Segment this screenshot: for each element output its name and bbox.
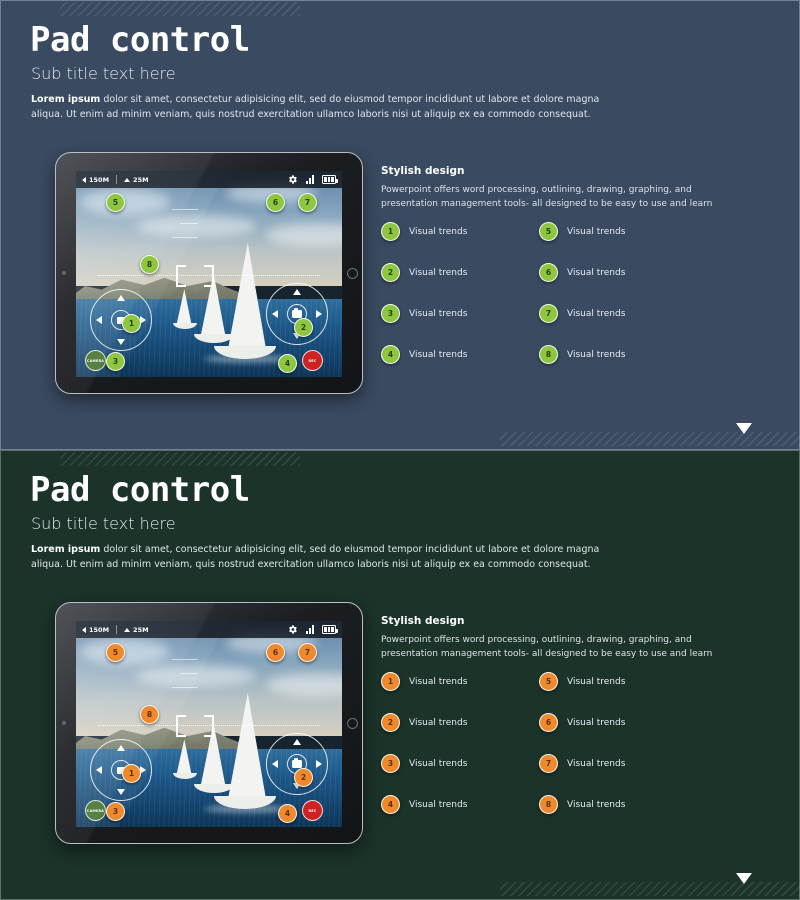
legend-badge: 6: [539, 713, 558, 732]
legend-label: Visual trends: [409, 350, 467, 360]
list-item[interactable]: 6Visual trends: [539, 713, 681, 732]
tablet-device: 150M 25M: [55, 602, 363, 844]
callout-pin-7[interactable]: 7: [298, 193, 317, 212]
legend-label: Visual trends: [567, 227, 625, 237]
triangle-left-icon: [82, 627, 86, 633]
focus-tick: [172, 659, 198, 660]
distance-up-group: 25M: [124, 176, 149, 184]
page-title: Pad control: [30, 470, 250, 510]
list-item[interactable]: 5Visual trends: [539, 222, 681, 241]
photo-cloud: [80, 639, 170, 665]
panel-heading: Stylish design: [381, 165, 464, 177]
triangle-left-icon: [82, 177, 86, 183]
body-paragraph: Lorem ipsum dolor sit amet, consectetur …: [31, 543, 631, 572]
decorative-hatch-top: [60, 2, 300, 16]
page-subtitle: Sub title text here: [31, 514, 176, 533]
list-item[interactable]: 4Visual trends: [381, 345, 523, 364]
list-item[interactable]: 2Visual trends: [381, 263, 523, 282]
status-right-icons: [287, 624, 336, 635]
body-rest: dolor sit amet, consectetur adipisicing …: [31, 94, 599, 120]
body-paragraph: Lorem ipsum dolor sit amet, consectetur …: [31, 93, 631, 122]
legend-label: Visual trends: [567, 268, 625, 278]
list-item[interactable]: 3Visual trends: [381, 754, 523, 773]
photo-mode-button[interactable]: CAMERA: [85, 350, 106, 371]
slide-pad-control-blue: Pad control Sub title text here Lorem ip…: [0, 0, 800, 450]
tablet-screen: 150M 25M: [76, 171, 342, 377]
distance-up-value: 25M: [133, 176, 149, 184]
distance-left-value: 150M: [89, 626, 109, 634]
legend-badge: 7: [539, 304, 558, 323]
legend-badge: 1: [381, 222, 400, 241]
tablet-device: 150M 25M: [55, 152, 363, 394]
gear-icon[interactable]: [287, 624, 298, 635]
next-slide-arrow-icon[interactable]: [736, 423, 752, 434]
list-item[interactable]: 8Visual trends: [539, 795, 681, 814]
battery-icon: [322, 625, 336, 634]
camera-status-bar: 150M 25M: [76, 171, 342, 188]
legend-label: Visual trends: [409, 759, 467, 769]
legend-label: Visual trends: [409, 309, 467, 319]
legend-label: Visual trends: [567, 309, 625, 319]
dpad-left-arrow-icon[interactable]: [272, 760, 278, 768]
front-camera-icon: [62, 271, 66, 275]
dpad-down-arrow-icon[interactable]: [117, 339, 125, 345]
panel-description: Powerpoint offers word processing, outli…: [381, 183, 731, 212]
dpad-right-arrow-icon[interactable]: [316, 760, 322, 768]
list-item[interactable]: 1Visual trends: [381, 672, 523, 691]
photo-cloud: [136, 665, 256, 687]
legend-badge: 4: [381, 345, 400, 364]
home-button[interactable]: [347, 718, 358, 729]
focus-tick: [172, 687, 198, 688]
dpad-left-arrow-icon[interactable]: [96, 316, 102, 324]
signal-bars-icon: [306, 625, 314, 634]
legend-badge: 6: [539, 263, 558, 282]
list-item[interactable]: 8Visual trends: [539, 345, 681, 364]
dpad-left-arrow-icon[interactable]: [272, 310, 278, 318]
legend-badge: 2: [381, 263, 400, 282]
legend-badge: 4: [381, 795, 400, 814]
callout-pin-3[interactable]: 3: [106, 802, 125, 821]
callout-pin-2[interactable]: 2: [294, 318, 313, 337]
page-title: Pad control: [30, 20, 250, 60]
decorative-hatch-bottom: [500, 432, 800, 446]
callout-pin-5[interactable]: 5: [106, 193, 125, 212]
distance-left-group: 150M: [82, 626, 109, 634]
list-item[interactable]: 7Visual trends: [539, 304, 681, 323]
legend-badge: 3: [381, 304, 400, 323]
photo-cloud: [136, 215, 256, 237]
status-right-icons: [287, 174, 336, 185]
gear-icon[interactable]: [287, 174, 298, 185]
focus-bracket-right: [204, 715, 214, 737]
tablet-screen: 150M 25M: [76, 621, 342, 827]
legend-label: Visual trends: [567, 677, 625, 687]
list-item[interactable]: 6Visual trends: [539, 263, 681, 282]
slide-pad-control-green: Pad control Sub title text here Lorem ip…: [0, 450, 800, 900]
callout-pin-1[interactable]: 1: [122, 314, 141, 333]
record-button[interactable]: REC: [302, 350, 323, 371]
camera-icon: [292, 310, 302, 318]
callout-pin-1[interactable]: 1: [122, 764, 141, 783]
callout-pin-8[interactable]: 8: [140, 255, 159, 274]
decorative-hatch-bottom: [500, 882, 800, 896]
legend-badge: 3: [381, 754, 400, 773]
dpad-up-arrow-icon[interactable]: [117, 745, 125, 751]
callout-pin-4[interactable]: 4: [278, 804, 297, 823]
callout-pin-8[interactable]: 8: [140, 705, 159, 724]
legend-label: Visual trends: [409, 718, 467, 728]
legend-label: Visual trends: [567, 718, 625, 728]
callout-pin-3[interactable]: 3: [106, 352, 125, 371]
legend-label: Visual trends: [567, 759, 625, 769]
legend-label: Visual trends: [409, 800, 467, 810]
callout-pin-6[interactable]: 6: [266, 193, 285, 212]
focus-tick: [180, 223, 198, 224]
dpad-up-arrow-icon[interactable]: [117, 295, 125, 301]
body-lead: Lorem ipsum: [31, 544, 100, 555]
dpad-left-arrow-icon[interactable]: [96, 766, 102, 774]
dpad-left[interactable]: [90, 739, 152, 801]
callout-pin-7[interactable]: 7: [298, 643, 317, 662]
list-item[interactable]: 7Visual trends: [539, 754, 681, 773]
record-button[interactable]: REC: [302, 800, 323, 821]
focus-bracket-right: [204, 265, 214, 287]
legend-grid: 1Visual trends 5Visual trends 2Visual tr…: [381, 222, 681, 364]
panel-description: Powerpoint offers word processing, outli…: [381, 633, 731, 662]
dpad-left[interactable]: [90, 289, 152, 351]
legend-label: Visual trends: [567, 350, 625, 360]
body-lead: Lorem ipsum: [31, 94, 100, 105]
photo-cloud: [80, 189, 170, 215]
distance-up-value: 25M: [133, 626, 149, 634]
legend-badge: 8: [539, 345, 558, 364]
distance-up-group: 25M: [124, 626, 149, 634]
legend-badge: 7: [539, 754, 558, 773]
dpad-up-arrow-icon[interactable]: [293, 289, 301, 295]
panel-heading: Stylish design: [381, 615, 464, 627]
list-item[interactable]: 4Visual trends: [381, 795, 523, 814]
distance-left-group: 150M: [82, 176, 109, 184]
legend-label: Visual trends: [409, 268, 467, 278]
list-item[interactable]: 1Visual trends: [381, 222, 523, 241]
signal-bars-icon: [306, 175, 314, 184]
legend-badge: 5: [539, 222, 558, 241]
distance-left-value: 150M: [89, 176, 109, 184]
callout-pin-4[interactable]: 4: [278, 354, 297, 373]
camera-icon: [292, 760, 302, 768]
legend-badge: 2: [381, 713, 400, 732]
dpad-up-arrow-icon[interactable]: [293, 739, 301, 745]
legend-label: Visual trends: [409, 227, 467, 237]
list-item[interactable]: 2Visual trends: [381, 713, 523, 732]
camera-status-bar: 150M 25M: [76, 621, 342, 638]
focus-bracket-left: [176, 715, 186, 737]
list-item[interactable]: 3Visual trends: [381, 304, 523, 323]
callout-pin-2[interactable]: 2: [294, 768, 313, 787]
status-divider: [116, 625, 117, 634]
dpad-right-arrow-icon[interactable]: [316, 310, 322, 318]
triangle-up-icon: [124, 628, 130, 632]
front-camera-icon: [62, 721, 66, 725]
legend-badge: 5: [539, 672, 558, 691]
photo-mode-button[interactable]: CAMERA: [85, 800, 106, 821]
focus-tick: [172, 237, 198, 238]
legend-badge: 8: [539, 795, 558, 814]
callout-pin-5[interactable]: 5: [106, 643, 125, 662]
battery-icon: [322, 175, 336, 184]
focus-bracket-left: [176, 265, 186, 287]
legend-label: Visual trends: [567, 800, 625, 810]
legend-grid: 1Visual trends 5Visual trends 2Visual tr…: [381, 672, 681, 814]
dpad-right[interactable]: [266, 283, 328, 345]
dpad-right[interactable]: [266, 733, 328, 795]
decorative-hatch-top: [60, 452, 300, 466]
focus-tick: [180, 673, 198, 674]
dpad-down-arrow-icon[interactable]: [117, 789, 125, 795]
list-item[interactable]: 5Visual trends: [539, 672, 681, 691]
triangle-up-icon: [124, 178, 130, 182]
callout-pin-6[interactable]: 6: [266, 643, 285, 662]
home-button[interactable]: [347, 268, 358, 279]
body-rest: dolor sit amet, consectetur adipisicing …: [31, 544, 599, 570]
next-slide-arrow-icon[interactable]: [736, 873, 752, 884]
legend-label: Visual trends: [409, 677, 467, 687]
legend-badge: 1: [381, 672, 400, 691]
focus-tick: [172, 209, 198, 210]
status-divider: [116, 175, 117, 184]
page-subtitle: Sub title text here: [31, 64, 176, 83]
